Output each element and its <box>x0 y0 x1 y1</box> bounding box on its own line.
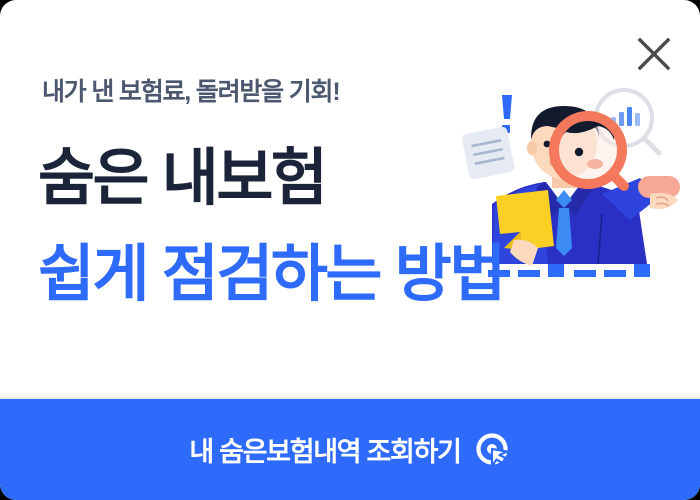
insurance-promo-banner: 내가 낸 보험료, 돌려받을 기회! <box>0 0 700 500</box>
cta-label: 내 숨은보험내역 조회하기 <box>189 430 460 469</box>
headline-line-2: 쉽게 점검하는 방법 <box>38 244 504 306</box>
headline-line-1: 숨은 내보험 <box>38 148 325 210</box>
cta-button[interactable]: 내 숨은보험내역 조회하기 <box>0 399 700 500</box>
dashed-line-decoration <box>488 264 650 277</box>
necktie-icon <box>556 190 572 256</box>
magnifying-glass-icon <box>554 116 624 186</box>
close-button[interactable] <box>630 30 678 78</box>
click-target-icon <box>475 432 511 468</box>
document-lines-icon <box>461 126 515 180</box>
banner-subtitle: 내가 낸 보험료, 돌려받을 기회! <box>42 72 339 108</box>
close-icon <box>630 30 678 78</box>
